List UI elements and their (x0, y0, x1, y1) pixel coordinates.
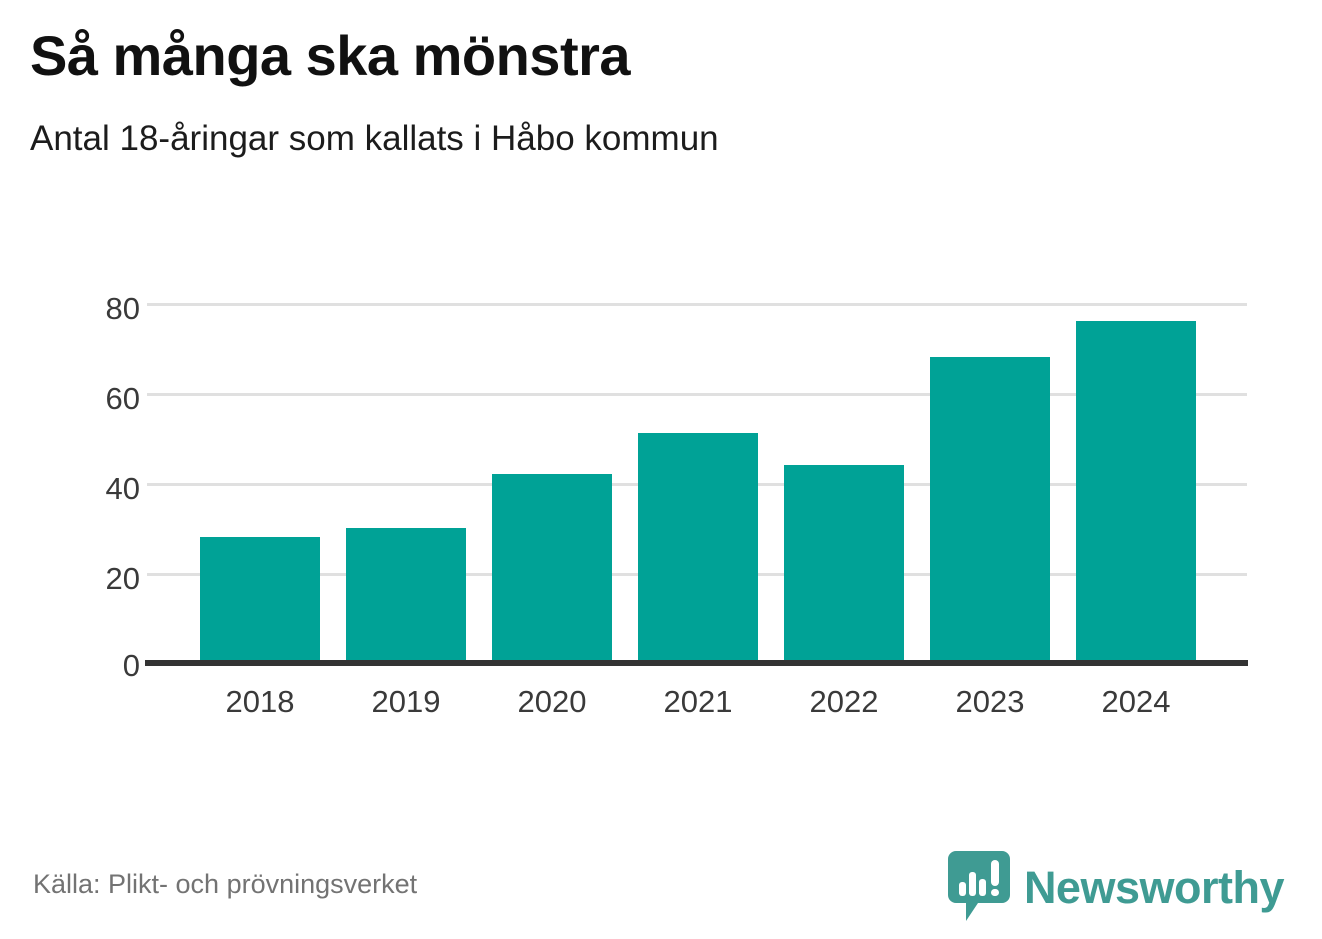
bar-2018[interactable] (200, 537, 320, 663)
x-axis-tick-2021: 2021 (618, 686, 778, 717)
x-axis-tick-2022: 2022 (764, 686, 924, 717)
bar-2024[interactable] (1076, 321, 1196, 663)
newsworthy-bar-chart-bubble-icon (948, 851, 1010, 923)
x-axis-tick-2023: 2023 (910, 686, 1070, 717)
y-axis-tick-60: 60 (30, 383, 140, 414)
y-axis-tick-80: 80 (30, 293, 140, 324)
bar-2021[interactable] (638, 433, 758, 663)
chart-footer: Källa: Plikt- och prövningsverket Newswo… (0, 845, 1322, 939)
y-axis-tick-0: 0 (30, 650, 140, 681)
bar-2019[interactable] (346, 528, 466, 663)
x-axis-tick-2020: 2020 (472, 686, 632, 717)
source-note: Källa: Plikt- och prövningsverket (33, 869, 417, 900)
x-axis-tick-2019: 2019 (326, 686, 486, 717)
gridline-80 (147, 303, 1247, 306)
y-axis-tick-40: 40 (30, 473, 140, 504)
bar-2023[interactable] (930, 357, 1050, 663)
newsworthy-logo[interactable]: Newsworthy (948, 851, 1284, 923)
x-axis-line (145, 660, 1248, 666)
x-axis-tick-2024: 2024 (1056, 686, 1216, 717)
bar-2020[interactable] (492, 474, 612, 663)
bar-chart-plot-area: 80 60 40 20 0 2018 2019 2020 2021 2022 2… (0, 0, 1322, 760)
bar-2022[interactable] (784, 465, 904, 663)
newsworthy-wordmark: Newsworthy (1024, 865, 1284, 910)
y-axis-tick-20: 20 (30, 563, 140, 594)
x-axis-tick-2018: 2018 (180, 686, 340, 717)
